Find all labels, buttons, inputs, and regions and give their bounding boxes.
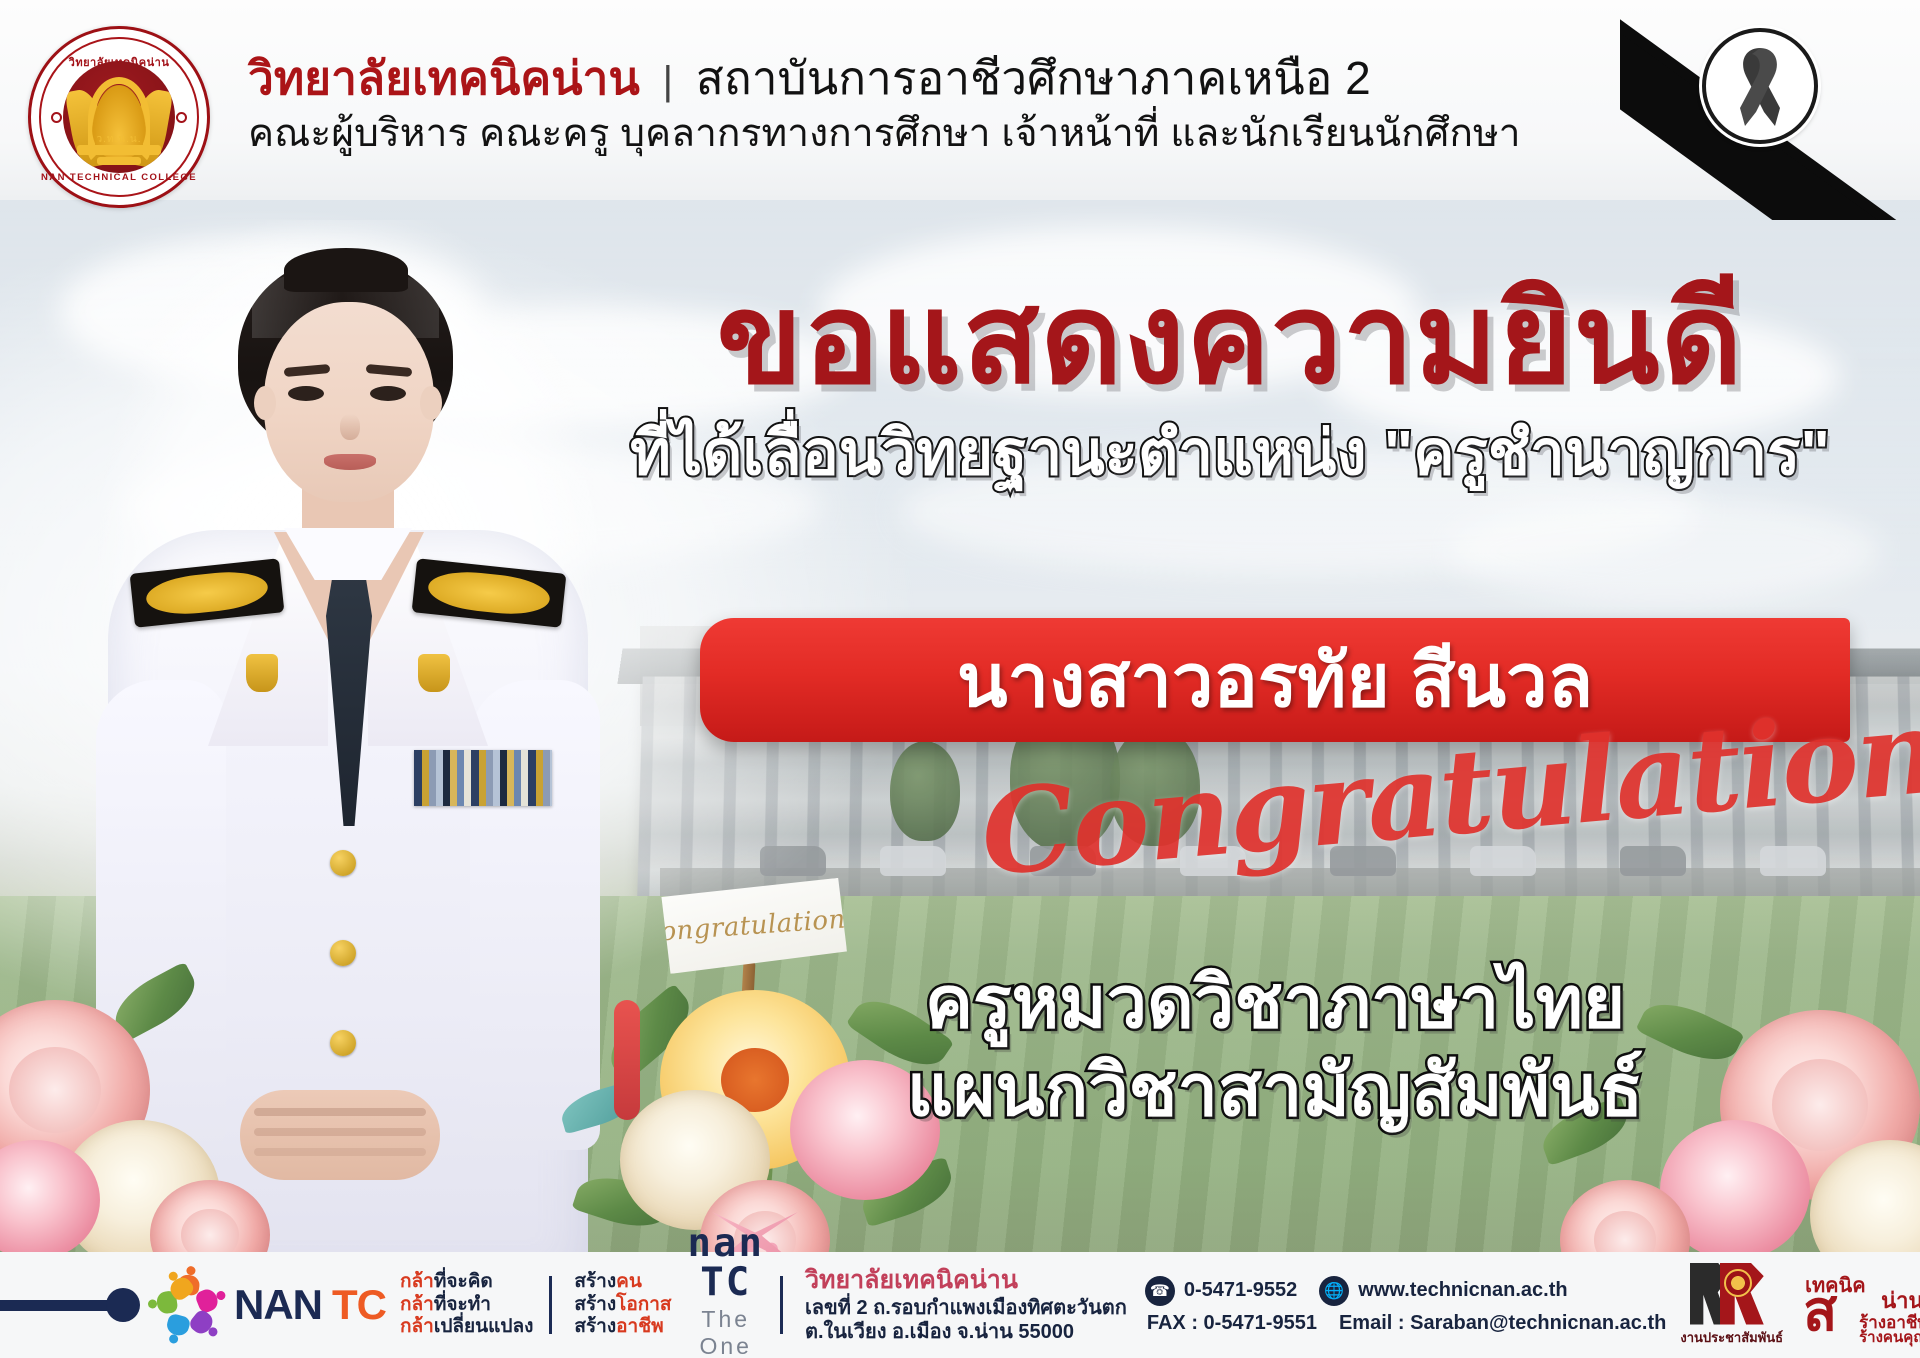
- headline-block: ขอแสดงความยินดี ที่ได้เลื่อนวิทยฐานะตำแห…: [560, 276, 1900, 488]
- tc-wordmark: TC: [332, 1281, 386, 1329]
- role-block: ครูหมวดวิชาภาษาไทย แผนกวิชาสามัญสัมพันธ์: [700, 960, 1850, 1136]
- nantc-slogan: กล้าที่จะคิด กล้าที่จะทำ กล้าเปลี่ยนแปลง: [400, 1271, 533, 1338]
- technic-nan-line-2: ร้างคนคุณภาพสู่สังคม: [1859, 1325, 1920, 1349]
- globe-icon: 🌐: [1319, 1276, 1349, 1306]
- create-item-2: โอกาส: [616, 1294, 671, 1315]
- page-title: ขอแสดงความยินดี: [560, 276, 1900, 402]
- pr-caption: งานประชาสัมพันธ์: [1680, 1327, 1783, 1348]
- clasped-hands: [240, 1090, 440, 1180]
- create-item-1: คน: [616, 1271, 642, 1292]
- congratulations-poster: วิทยาลัยเทคนิคน่าน NAN TECHNICAL COLLEGE…: [0, 0, 1920, 1358]
- footer-left-accent: [0, 1288, 140, 1322]
- slogan-prefix-1: กล้า: [400, 1271, 434, 1292]
- address-line-2: ต.ในเวียง อ.เมือง จ.น่าน 55000: [805, 1320, 1127, 1344]
- role-line-1: ครูหมวดวิชาภาษาไทย: [700, 960, 1850, 1048]
- phone-icon: ☎: [1145, 1276, 1175, 1306]
- seal-right-dot-icon: [176, 112, 187, 123]
- institute-name: สถาบันการอาชีวศึกษาภาคเหนือ 2: [696, 52, 1371, 104]
- create-prefix-2: สร้าง: [574, 1294, 616, 1315]
- college-name-red: วิทยาลัยเทคนิคน่าน: [248, 52, 640, 104]
- one-team-tagline: The One Team: [688, 1306, 764, 1358]
- slogan-rest-3: เปลี่ยนแปลง: [434, 1316, 534, 1337]
- nan-tc-mono-wordmark: nan TC: [688, 1224, 764, 1302]
- technic-nan-big-letter: ส: [1803, 1283, 1837, 1339]
- seal-left-dot-icon: [51, 112, 62, 123]
- mourning-corner: [1620, 0, 1920, 220]
- create-prefix-3: สร้าง: [574, 1316, 616, 1337]
- phone-number[interactable]: 0-5471-9552: [1184, 1279, 1297, 1302]
- slogan-rest-2: ที่จะทำ: [434, 1294, 491, 1315]
- technic-nan-logo: เทคนิค ส น่าน ร้างอาชีพ ร้างคนคุณภาพสู่ส…: [1797, 1267, 1920, 1343]
- collar-emblem-right: [418, 654, 450, 692]
- contact-info: ☎ 0-5471-9552 🌐 www.technicnan.ac.th FAX…: [1145, 1276, 1666, 1335]
- pr-logo-icon: [1690, 1263, 1774, 1325]
- header-separator: |: [653, 59, 683, 103]
- seal-emblem: ว.ท.น.น.: [63, 61, 175, 173]
- create-prefix-1: สร้าง: [574, 1271, 616, 1292]
- slogan-prefix-2: กล้า: [400, 1294, 434, 1315]
- address-line-1: เลขที่ 2 ถ.รอบกำแพงเมืองทิศตะวันตก: [805, 1296, 1127, 1320]
- header-text-block: วิทยาลัยเทคนิคน่าน | สถาบันการอาชีวศึกษา…: [248, 52, 1521, 157]
- email-address[interactable]: Email : Saraban@technicnan.ac.th: [1339, 1312, 1666, 1335]
- footer-divider-1: [549, 1276, 552, 1334]
- nan-wordmark: NAN: [234, 1281, 322, 1329]
- congratulations-tag-text: congratulations: [644, 904, 860, 949]
- collar-emblem-left: [246, 654, 278, 692]
- pr-logo: งานประชาสัมพันธ์: [1680, 1263, 1783, 1348]
- create-slogan: สร้างคน สร้างโอกาส สร้างอาชีพ: [574, 1271, 671, 1339]
- flower-red-spike-icon: [614, 1000, 640, 1120]
- one-team-logo: nan TC The One Team: [688, 1224, 764, 1358]
- address-title: วิทยาลัยเทคนิคน่าน: [805, 1265, 1127, 1296]
- slogan-prefix-3: กล้า: [400, 1316, 434, 1337]
- black-mourning-ribbon-icon: [1702, 28, 1818, 144]
- fax-number: FAX : 0-5471-9551: [1147, 1312, 1317, 1335]
- service-ribbon-bar: [414, 750, 552, 806]
- nantc-logo: NAN TC กล้าที่จะคิด กล้าที่จะทำ กล้าเปลี…: [150, 1266, 533, 1344]
- slogan-rest-1: ที่จะคิด: [434, 1271, 493, 1292]
- footer-divider-2: [780, 1276, 783, 1334]
- seal-initials: ว.ท.น.น.: [63, 132, 175, 147]
- seal-bottom-text: NAN TECHNICAL COLLEGE: [41, 172, 197, 183]
- people-circle-icon: [150, 1266, 228, 1344]
- college-address: วิทยาลัยเทคนิคน่าน เลขที่ 2 ถ.รอบกำแพงเม…: [805, 1265, 1127, 1344]
- promotion-subtitle: ที่ได้เลื่อนวิทยฐานะตำแหน่ง "ครูชำนาญการ…: [560, 420, 1900, 488]
- header-bar: วิทยาลัยเทคนิคน่าน NAN TECHNICAL COLLEGE…: [0, 0, 1920, 200]
- header-subline: คณะผู้บริหาร คณะครู บุคลากรทางการศึกษา เ…: [248, 111, 1521, 158]
- website-link[interactable]: www.technicnan.ac.th: [1358, 1279, 1567, 1302]
- nan-technical-college-seal-icon: วิทยาลัยเทคนิคน่าน NAN TECHNICAL COLLEGE…: [28, 26, 210, 208]
- footer-bar: NAN TC กล้าที่จะคิด กล้าที่จะทำ กล้าเปลี…: [0, 1252, 1920, 1358]
- role-line-2: แผนกวิชาสามัญสัมพันธ์: [700, 1048, 1850, 1136]
- create-item-3: อาชีพ: [616, 1316, 664, 1337]
